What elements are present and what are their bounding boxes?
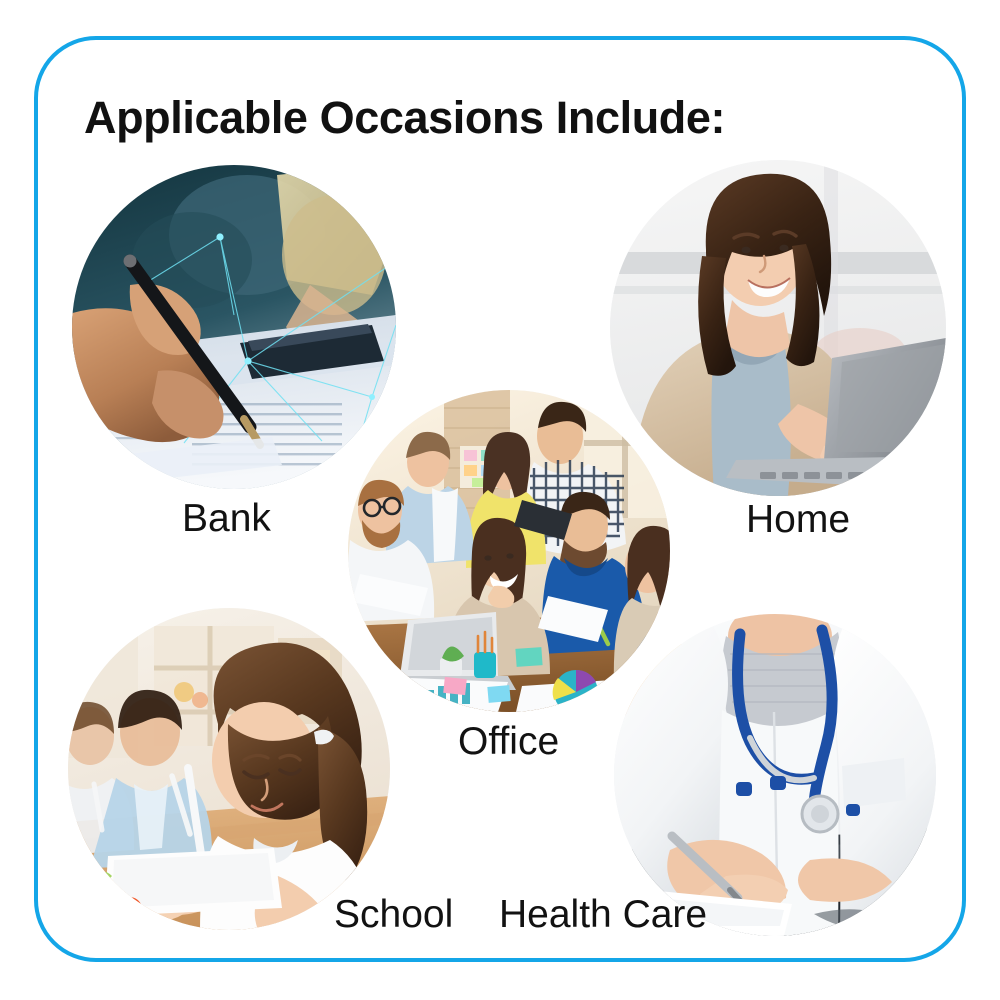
occasion-label-school: School — [334, 893, 453, 937]
bank-photo — [72, 165, 396, 489]
page-title: Applicable Occasions Include: — [84, 92, 725, 144]
school-photo — [68, 608, 390, 930]
occasion-label-home: Home — [746, 498, 850, 542]
occasion-label-health: Health Care — [499, 893, 707, 937]
home-photo — [610, 160, 946, 496]
occasion-label-office: Office — [458, 720, 559, 764]
health-care-photo — [614, 614, 936, 936]
occasion-label-bank: Bank — [182, 497, 271, 541]
office-photo — [348, 390, 670, 712]
promo-image: Applicable Occasions Include: — [0, 0, 1000, 1000]
